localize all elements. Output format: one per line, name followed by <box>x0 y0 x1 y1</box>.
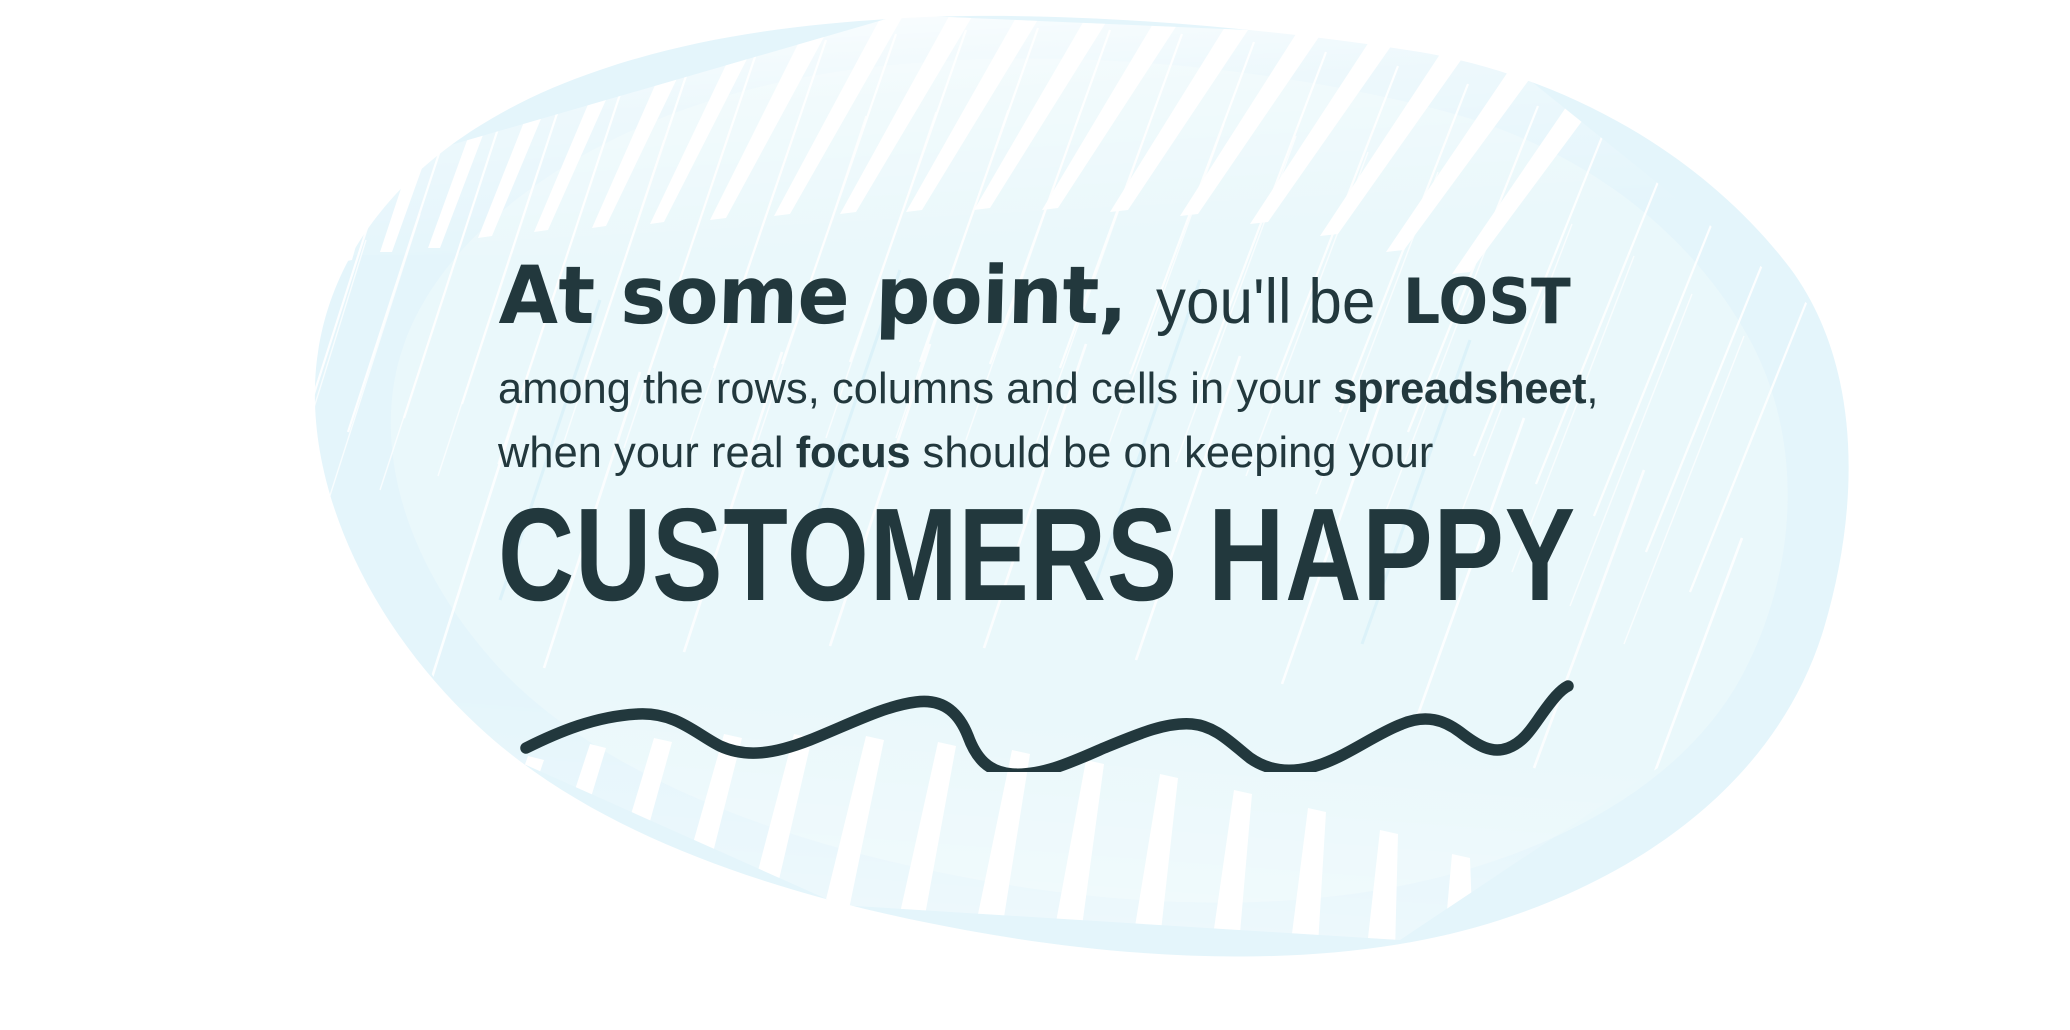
quote-line-2-prefix: among the rows, columns and cells in you… <box>498 364 1333 413</box>
quote-line-3: when your real focus should be on keepin… <box>498 426 1574 480</box>
slide-canvas: At some point, you'll be LOST among the … <box>0 0 2070 1030</box>
hand-drawn-wavy-underline-icon <box>498 662 1598 772</box>
quote-line-1: At some point, you'll be LOST <box>498 248 1590 344</box>
quote-line-1-handwritten: At some point, <box>498 248 1129 344</box>
quote-line-3-emphasis: focus <box>796 428 911 477</box>
quote-text-block: At some point, you'll be LOST among the … <box>498 248 1590 614</box>
quote-line-2-emphasis: spreadsheet <box>1333 364 1586 413</box>
quote-headline: CUSTOMERS HAPPY <box>498 496 1590 614</box>
quote-line-1-emphasis: LOST <box>1403 254 1571 350</box>
quote-line-2: among the rows, columns and cells in you… <box>498 362 1574 416</box>
quote-line-2-suffix: , <box>1586 364 1598 413</box>
quote-line-1-light: you'll be <box>1156 254 1375 350</box>
quote-line-3-suffix: should be on keeping your <box>910 428 1433 477</box>
quote-line-3-prefix: when your real <box>498 428 796 477</box>
